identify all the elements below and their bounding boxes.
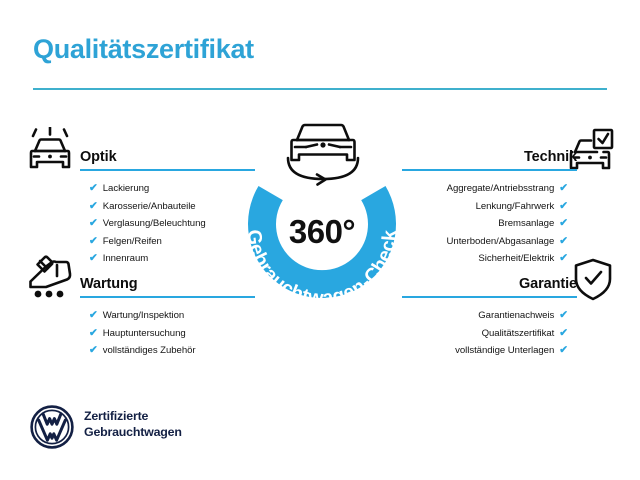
- list-item-label: Hauptuntersuchung: [103, 328, 186, 339]
- list-item: Bremsanlage✔: [402, 215, 568, 233]
- check-icon: ✔: [559, 325, 568, 342]
- list-item-label: Garantienachweis: [478, 310, 554, 321]
- section-title: Garantie: [519, 276, 577, 292]
- section-title: Technik: [524, 149, 577, 165]
- section-header-optik: Optik: [80, 141, 255, 167]
- list-item-label: Karosserie/Anbauteile: [103, 201, 196, 212]
- list-item: ✔vollständiges Zubehör: [89, 342, 255, 360]
- list-item: ✔Lackierung: [89, 180, 255, 198]
- list-item-label: Innenraum: [103, 253, 148, 264]
- check-icon: ✔: [89, 215, 98, 232]
- section-garantie: Garantie Garantienachweis✔ Qualitätszert…: [402, 268, 577, 360]
- footer-brand-text: Zertifizierte Gebrauchtwagen: [84, 408, 182, 440]
- list-item: Qualitätszertifikat✔: [402, 325, 568, 343]
- car-shine-icon: [26, 127, 74, 178]
- list-item: ✔Hauptuntersuchung: [89, 325, 255, 343]
- checklist-garantie: Garantienachweis✔ Qualitätszertifikat✔ v…: [402, 307, 577, 360]
- list-item: Garantienachweis✔: [402, 307, 568, 325]
- list-item: Lenkung/Fahrwerk✔: [402, 198, 568, 216]
- certificate-sheet: Qualitätszertifikat: [0, 0, 640, 480]
- section-divider: [402, 169, 577, 171]
- check-icon: ✔: [89, 250, 98, 267]
- list-item-label: Lenkung/Fahrwerk: [476, 201, 555, 212]
- list-item-label: Sicherheit/Elektrik: [478, 253, 554, 264]
- shield-check-icon: [572, 257, 614, 308]
- check-icon: ✔: [559, 198, 568, 215]
- list-item-label: Bremsanlage: [498, 218, 554, 229]
- checklist-optik: ✔Lackierung ✔Karosserie/Anbauteile ✔Verg…: [80, 180, 255, 268]
- title-divider: [33, 88, 607, 90]
- section-wartung: Wartung ✔Wartung/Inspektion ✔Hauptunters…: [80, 268, 255, 360]
- list-item: Aggregate/Antriebsstrang✔: [402, 180, 568, 198]
- list-item: Unterboden/Abgasanlage✔: [402, 233, 568, 251]
- check-icon: ✔: [89, 233, 98, 250]
- wrench-car-icon: [26, 254, 74, 305]
- section-technik: Technik Aggregate/Antriebsstrang✔ Lenkun…: [402, 141, 577, 268]
- list-item-label: Verglasung/Beleuchtung: [103, 218, 206, 229]
- volkswagen-logo: [30, 405, 74, 454]
- section-header-wartung: Wartung: [80, 268, 255, 294]
- list-item-label: Qualitätszertifikat: [482, 328, 555, 339]
- list-item-label: Aggregate/Antriebsstrang: [447, 183, 555, 194]
- list-item: ✔Felgen/Reifen: [89, 233, 255, 251]
- section-divider: [402, 296, 577, 298]
- list-item-label: vollständiges Zubehör: [103, 345, 196, 356]
- page-title: Qualitätszertifikat: [33, 34, 254, 65]
- check-icon: ✔: [559, 307, 568, 324]
- checklist-technik: Aggregate/Antriebsstrang✔ Lenkung/Fahrwe…: [402, 180, 577, 268]
- list-item-label: Felgen/Reifen: [103, 236, 162, 247]
- list-item-label: vollständige Unterlagen: [455, 345, 554, 356]
- section-header-garantie: Garantie: [402, 268, 577, 294]
- check-icon: ✔: [559, 180, 568, 197]
- check-icon: ✔: [559, 342, 568, 359]
- section-divider: [80, 296, 255, 298]
- section-title: Optik: [80, 149, 117, 165]
- check-icon: ✔: [89, 342, 98, 359]
- list-item: ✔Innenraum: [89, 250, 255, 268]
- check-icon: ✔: [559, 233, 568, 250]
- list-item: Sicherheit/Elektrik✔: [402, 250, 568, 268]
- list-item: ✔Verglasung/Beleuchtung: [89, 215, 255, 233]
- car-front-rotate-icon: [273, 113, 373, 196]
- check-icon: ✔: [89, 325, 98, 342]
- section-title: Wartung: [80, 276, 138, 292]
- check-icon: ✔: [89, 180, 98, 197]
- list-item: ✔Karosserie/Anbauteile: [89, 198, 255, 216]
- section-divider: [80, 169, 255, 171]
- check-icon: ✔: [89, 198, 98, 215]
- list-item: ✔Wartung/Inspektion: [89, 307, 255, 325]
- list-item-label: Unterboden/Abgasanlage: [447, 236, 555, 247]
- section-header-technik: Technik: [402, 141, 577, 167]
- check-icon: ✔: [89, 307, 98, 324]
- check-icon: ✔: [559, 215, 568, 232]
- list-item-label: Wartung/Inspektion: [103, 310, 184, 321]
- footer-line-1: Zertifizierte: [84, 408, 182, 424]
- section-optik: Optik ✔Lackierung ✔Karosserie/Anbauteile…: [80, 141, 255, 268]
- checklist-wartung: ✔Wartung/Inspektion ✔Hauptuntersuchung ✔…: [80, 307, 255, 360]
- list-item-label: Lackierung: [103, 183, 149, 194]
- check-icon: ✔: [559, 250, 568, 267]
- list-item: vollständige Unterlagen✔: [402, 342, 568, 360]
- footer-line-2: Gebrauchtwagen: [84, 424, 182, 440]
